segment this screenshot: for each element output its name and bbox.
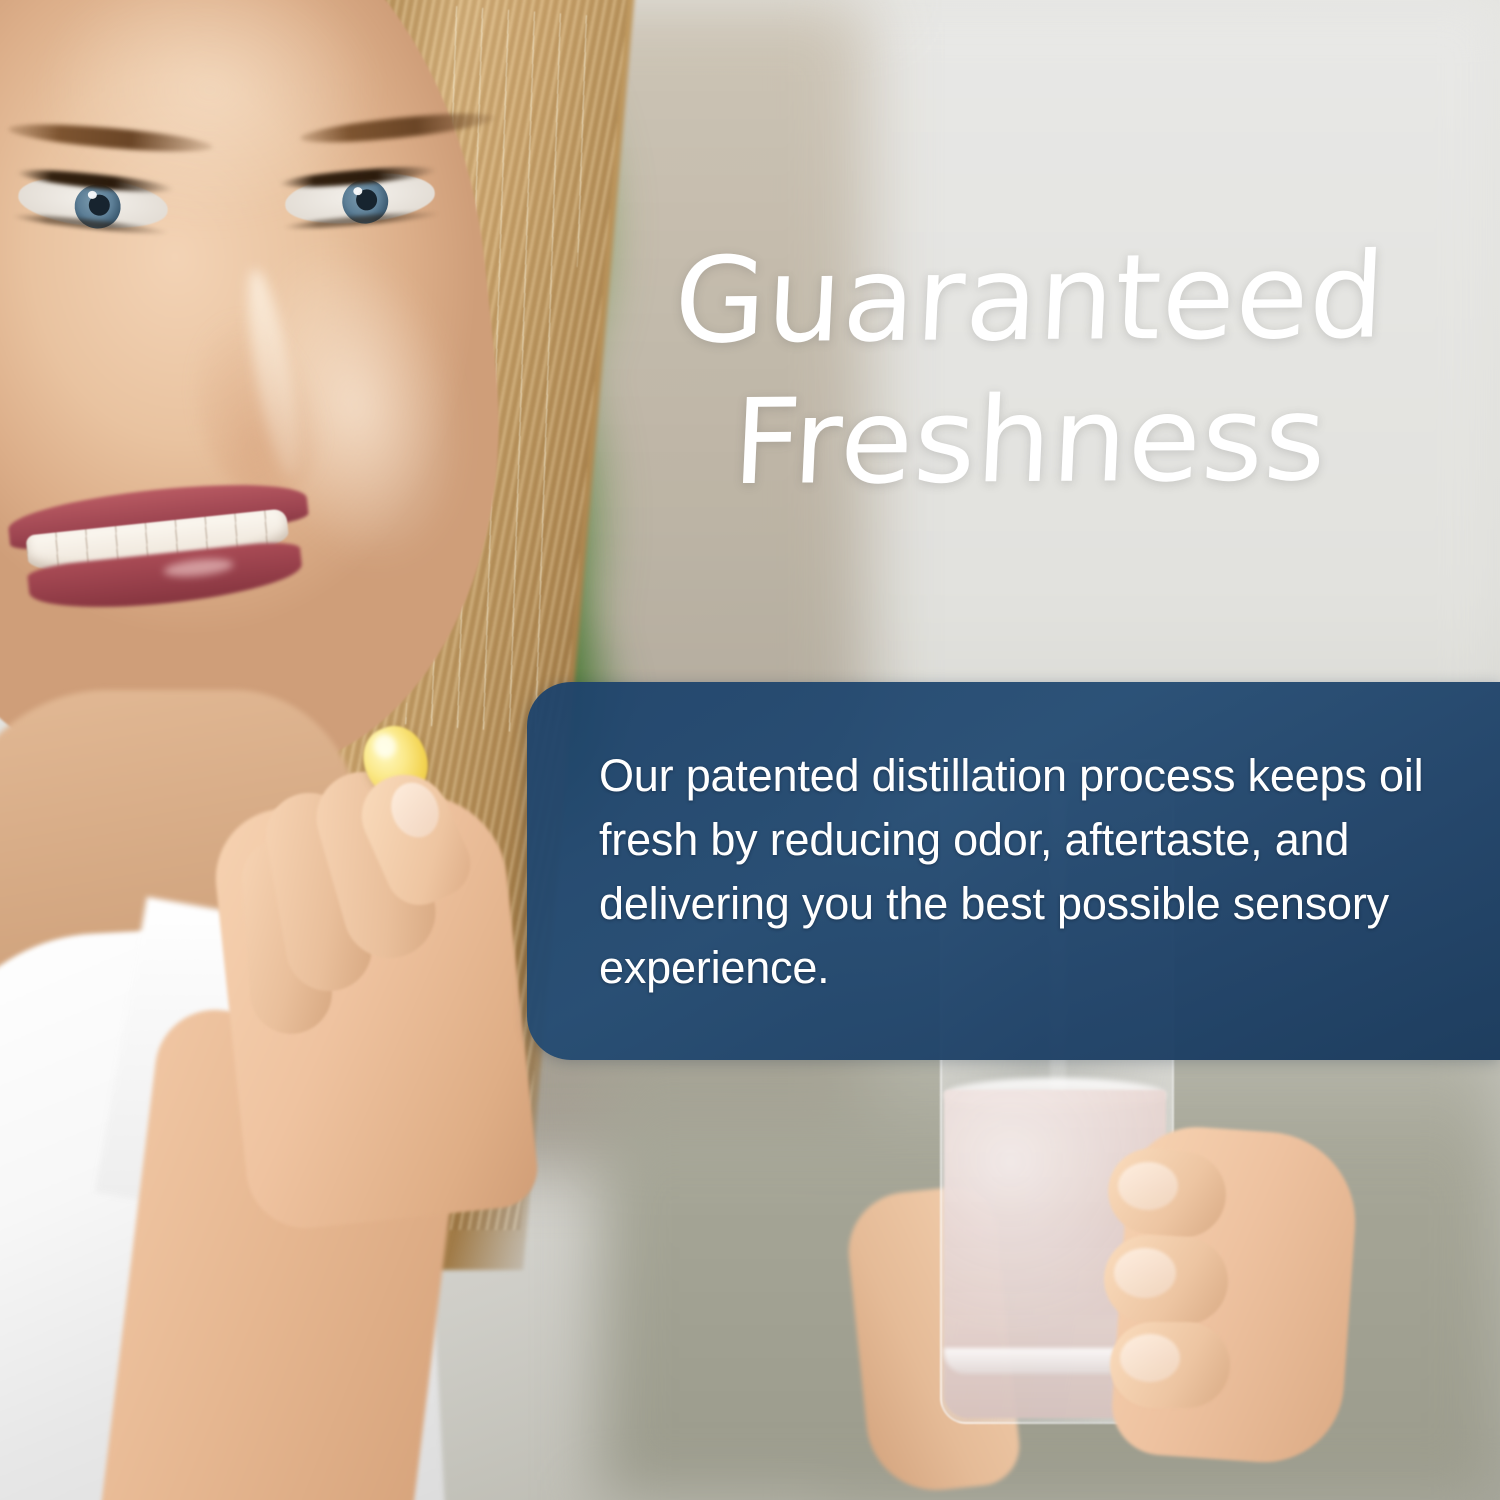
glass-fingernail-index <box>1118 1162 1178 1210</box>
product-lifestyle-banner: Guaranteed Freshness Our patented distil… <box>0 0 1500 1500</box>
callout-panel: Our patented distillation process keeps … <box>527 682 1500 1060</box>
glass-fingernail-ring <box>1120 1334 1180 1382</box>
glass-fingernail-middle <box>1114 1248 1176 1298</box>
headline-line-2: Freshness <box>597 367 1464 515</box>
eye-right <box>283 162 438 237</box>
callout-body-text: Our patented distillation process keeps … <box>599 744 1428 1000</box>
headline: Guaranteed Freshness <box>600 228 1460 511</box>
headline-line-1: Guaranteed <box>597 225 1464 373</box>
